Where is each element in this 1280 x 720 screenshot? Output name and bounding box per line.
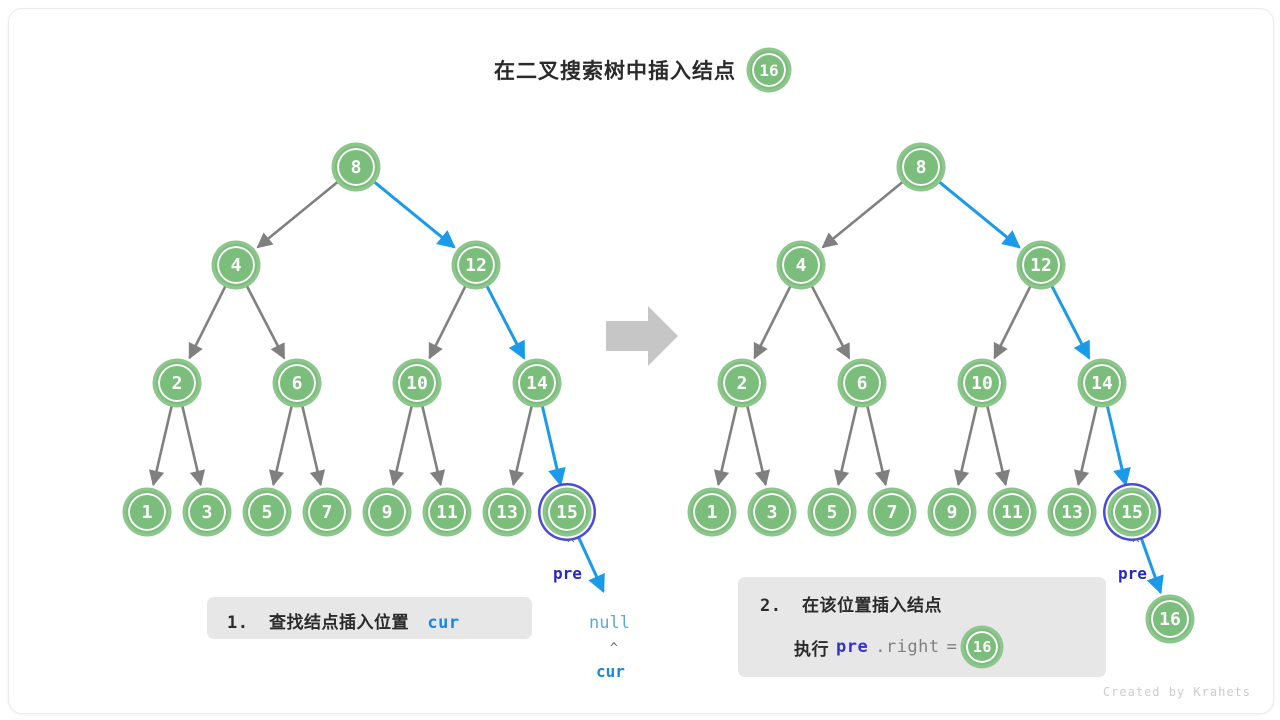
tree-node-value: 1 xyxy=(707,502,718,523)
tree-edge-6-7 xyxy=(867,404,886,484)
tree-node-value: 6 xyxy=(292,373,303,394)
tree-node-value: 12 xyxy=(1030,255,1052,276)
tree-node-14: 14 xyxy=(516,362,558,404)
tree-node-8: 8 xyxy=(900,146,942,188)
tree-node-value: 15 xyxy=(556,502,578,523)
step-2-node-16: 16 xyxy=(964,629,1000,665)
tree-edge-2-1 xyxy=(718,404,737,484)
tree-node-5: 5 xyxy=(811,491,853,533)
tree-node-value: 7 xyxy=(322,502,333,523)
tree-edge-6-5 xyxy=(838,404,857,484)
footer-credit: Created by Krahets xyxy=(1103,685,1251,699)
tree-node-1: 1 xyxy=(691,491,733,533)
tree-node-value: 5 xyxy=(262,502,273,523)
tree-node-value: 8 xyxy=(351,157,362,178)
tree-node-13: 13 xyxy=(486,491,528,533)
tree-edge-12-10 xyxy=(430,285,467,358)
tree-node-value: 11 xyxy=(436,502,458,523)
tree-node-value: 4 xyxy=(231,255,242,276)
step-1-text: 查找结点插入位置 xyxy=(269,613,409,632)
tree-node-value: 11 xyxy=(1001,502,1023,523)
tree-node-3: 3 xyxy=(186,491,228,533)
step-1-box: 1. 查找结点插入位置 cur xyxy=(207,597,532,639)
tree-node-11: 11 xyxy=(426,491,468,533)
tree-node-value: 10 xyxy=(971,373,993,394)
tree-node-13: 13 xyxy=(1051,491,1093,533)
tree-node-15: 15 xyxy=(546,491,588,533)
tree-node-value: 13 xyxy=(496,502,518,523)
tree-node-7: 7 xyxy=(306,491,348,533)
step-2-node-value: 16 xyxy=(973,638,992,656)
tree-edge-10-11 xyxy=(422,404,441,484)
tree-node-value: 6 xyxy=(857,373,868,394)
tree-node-12: 12 xyxy=(1020,244,1062,286)
pre-label-left: pre xyxy=(553,564,582,583)
tree-node-value: 15 xyxy=(1121,502,1143,523)
diagram-card: 在二叉搜索树中插入结点 16 8412261014135791113158412… xyxy=(8,8,1274,714)
tree-node-4: 4 xyxy=(780,244,822,286)
tree-node-10: 10 xyxy=(396,362,438,404)
tree-node-7: 7 xyxy=(871,491,913,533)
tree-edge-10-11 xyxy=(987,404,1006,484)
tree-edge-8-12 xyxy=(938,181,1019,247)
tree-edge-4-2 xyxy=(190,285,227,358)
tree-node-4: 4 xyxy=(215,244,257,286)
tree-node-value: 13 xyxy=(1061,502,1083,523)
step-2-index: 2. xyxy=(760,596,781,616)
step-2-field: .right xyxy=(875,637,939,657)
tree-node-value: 10 xyxy=(406,373,428,394)
cur-caret-left: ^ xyxy=(610,641,618,656)
tree-edge-8-4 xyxy=(823,181,904,247)
tree-edge-14-15 xyxy=(542,404,561,484)
step-2-var: pre xyxy=(836,637,868,657)
step-2-verb: 执行 xyxy=(794,635,829,660)
transition-arrow-icon xyxy=(606,306,678,366)
tree-node-value: 2 xyxy=(737,373,748,394)
page-title-text: 在二叉搜索树中插入结点 xyxy=(494,55,736,85)
tree-node-16: 16 xyxy=(1149,598,1191,640)
tree-node-value: 12 xyxy=(465,255,487,276)
tree-node-12: 12 xyxy=(455,244,497,286)
tree-node-value: 9 xyxy=(947,502,958,523)
tree-node-value: 14 xyxy=(1091,373,1113,394)
tree-edge-14-15 xyxy=(1107,404,1126,484)
tree-node-1: 1 xyxy=(126,491,168,533)
tree-edge-4-2 xyxy=(755,285,792,358)
title-node-16: 16 xyxy=(750,51,788,89)
tree-node-value: 2 xyxy=(172,373,183,394)
tree-node-value: 4 xyxy=(796,255,807,276)
tree-node-3: 3 xyxy=(751,491,793,533)
null-target-label: null xyxy=(589,613,630,633)
tree-node-11: 11 xyxy=(991,491,1033,533)
tree-node-value: 14 xyxy=(526,373,548,394)
tree-node-value: 3 xyxy=(202,502,213,523)
tree-edge-2-3 xyxy=(747,404,766,484)
pre-caret-left: ^ xyxy=(567,537,575,552)
tree-node-6: 6 xyxy=(276,362,318,404)
tree-edge-2-3 xyxy=(182,404,201,484)
title-node-value: 16 xyxy=(759,61,778,80)
tree-node-8: 8 xyxy=(335,146,377,188)
tree-edge-14-13 xyxy=(1078,404,1097,484)
tree-node-value: 5 xyxy=(827,502,838,523)
tree-node-9: 9 xyxy=(366,491,408,533)
tree-node-value: 16 xyxy=(1159,609,1181,630)
tree-edge-10-9 xyxy=(958,404,977,484)
step-2-line1: 在该位置插入结点 xyxy=(802,596,942,615)
pre-caret-right: ^ xyxy=(1132,537,1140,552)
tree-edge-8-12 xyxy=(373,181,454,247)
tree-node-2: 2 xyxy=(721,362,763,404)
step-1-index: 1. xyxy=(227,613,248,633)
tree-node-10: 10 xyxy=(961,362,1003,404)
step-1-var: cur xyxy=(427,613,459,633)
tree-node-value: 1 xyxy=(142,502,153,523)
tree-edge-6-7 xyxy=(302,404,321,484)
page-title: 在二叉搜索树中插入结点 16 xyxy=(9,51,1273,89)
tree-edge-12-10 xyxy=(995,285,1032,358)
tree-edge-4-6 xyxy=(811,285,849,359)
step-2-equals: = xyxy=(947,637,958,657)
tree-node-value: 7 xyxy=(887,502,898,523)
tree-edge-10-9 xyxy=(393,404,412,484)
tree-edge-12-14 xyxy=(486,285,524,359)
tree-node-15: 15 xyxy=(1111,491,1153,533)
tree-node-2: 2 xyxy=(156,362,198,404)
step-2-box: 2. 在该位置插入结点 执行 pre .right = 16 xyxy=(738,577,1106,677)
tree-node-value: 9 xyxy=(382,502,393,523)
tree-node-6: 6 xyxy=(841,362,883,404)
tree-edge-14-13 xyxy=(513,404,532,484)
pre-label-right: pre xyxy=(1118,564,1147,583)
tree-edge-8-4 xyxy=(258,181,339,247)
tree-edge-4-6 xyxy=(246,285,284,359)
tree-edge-12-14 xyxy=(1051,285,1089,359)
tree-node-14: 14 xyxy=(1081,362,1123,404)
cur-label-left: cur xyxy=(596,662,625,681)
tree-node-5: 5 xyxy=(246,491,288,533)
tree-edge-2-1 xyxy=(153,404,172,484)
tree-node-value: 8 xyxy=(916,157,927,178)
tree-edge-6-5 xyxy=(273,404,292,484)
tree-edge-15-16 xyxy=(1139,533,1160,593)
tree-node-9: 9 xyxy=(931,491,973,533)
tree-node-value: 3 xyxy=(767,502,778,523)
